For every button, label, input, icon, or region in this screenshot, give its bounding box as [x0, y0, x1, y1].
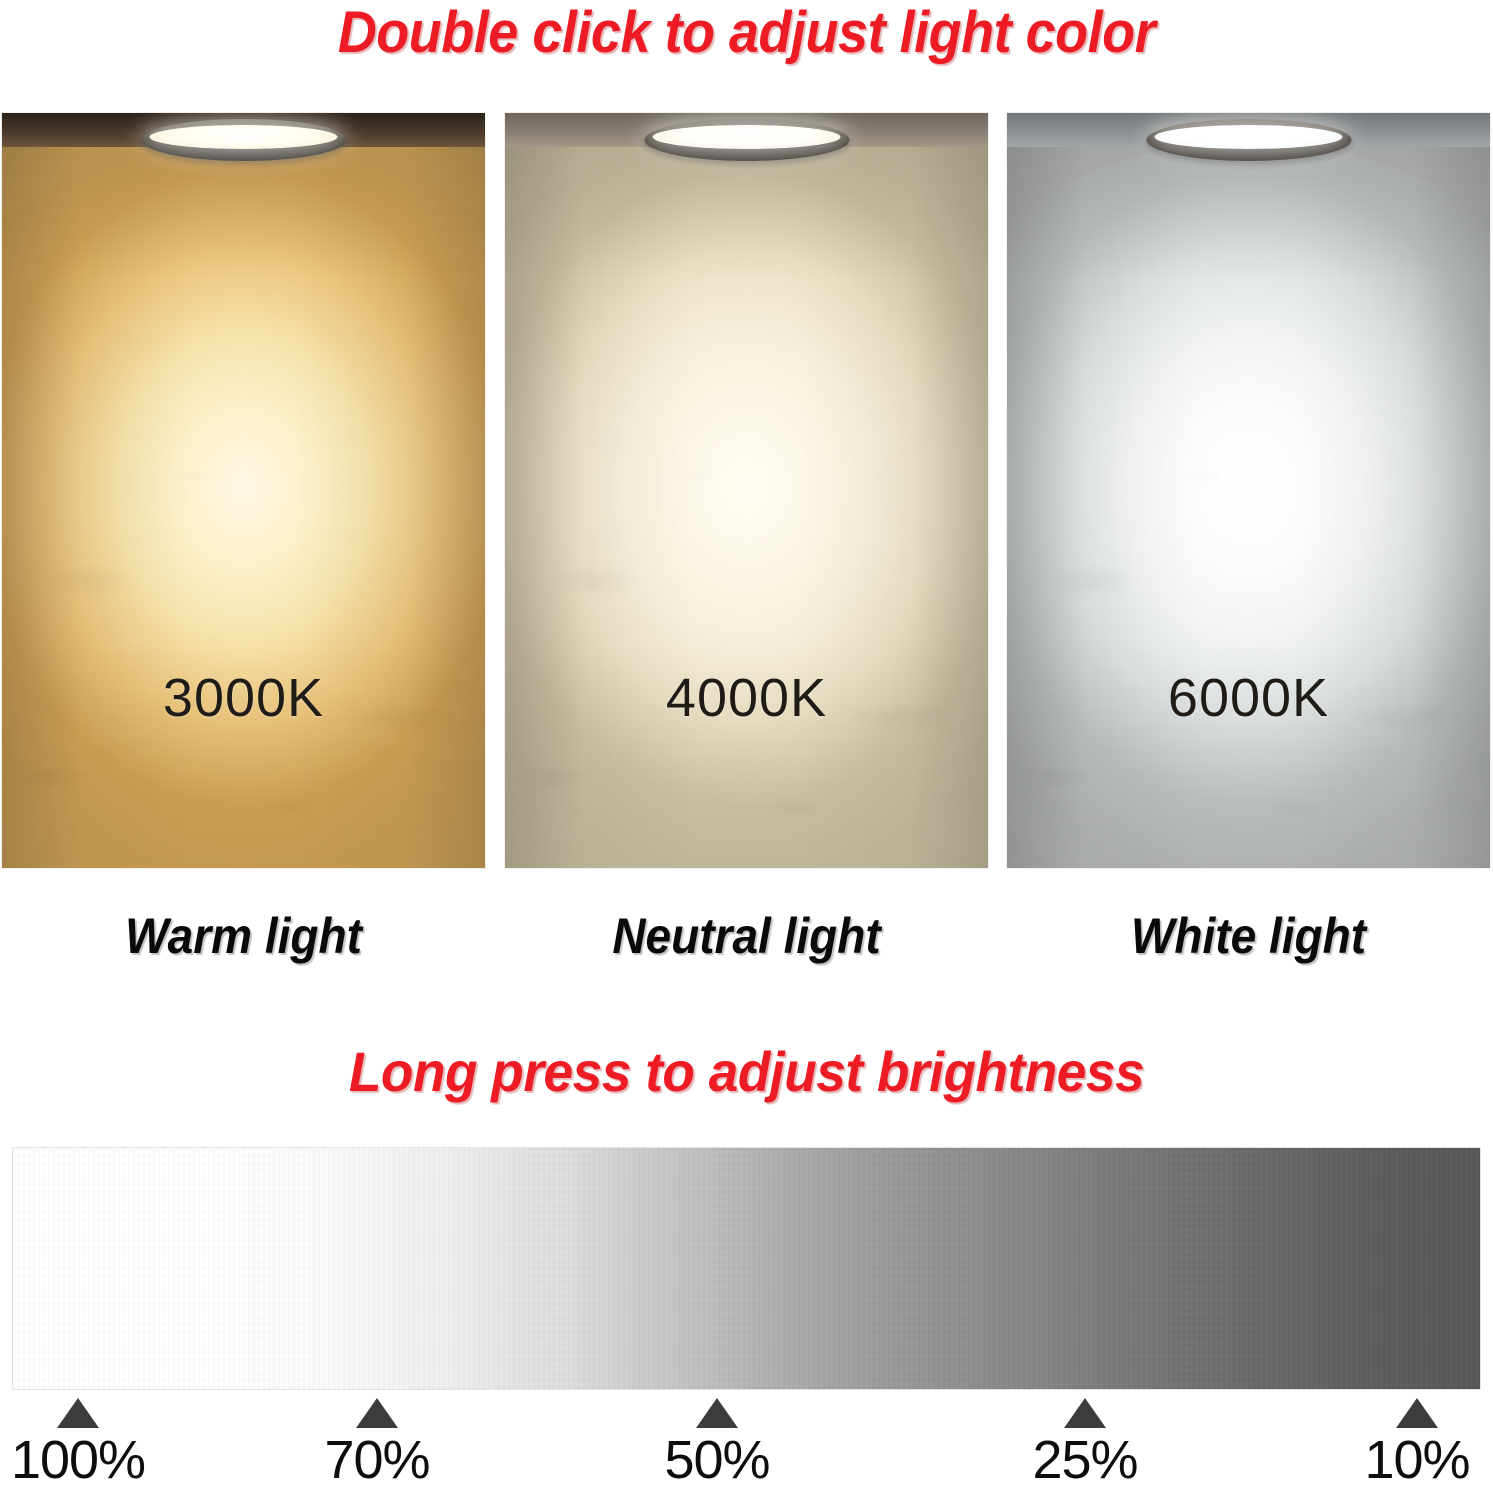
brightness-scale: 100% 70% 50% 25% 10% — [0, 1398, 1493, 1500]
gradient-texture — [13, 1148, 1480, 1389]
kelvin-label: 6000K — [1007, 668, 1490, 728]
brightness-tick-50: 50% — [617, 1398, 817, 1490]
triangle-up-icon — [696, 1398, 738, 1428]
triangle-up-icon — [1064, 1398, 1106, 1428]
brightness-tick-10: 10% — [1317, 1398, 1493, 1490]
triangle-up-icon — [57, 1398, 99, 1428]
color-panel-captions: Warm light Neutral light White light — [0, 905, 1493, 985]
brightness-level-label: 25% — [985, 1430, 1185, 1490]
color-panel-neutral: 4000K — [505, 113, 988, 868]
kelvin-label: 3000K — [2, 668, 485, 728]
caption-neutral-light: Neutral light — [524, 905, 968, 967]
brightness-level-label: 10% — [1317, 1430, 1493, 1490]
ceiling-light-icon — [1146, 119, 1351, 161]
brightness-level-label: 100% — [0, 1430, 178, 1490]
caption-warm-light: Warm light — [21, 905, 465, 967]
headline-adjust-light-color: Double click to adjust light color — [52, 0, 1440, 68]
ceiling-light-icon — [141, 119, 346, 161]
brightness-tick-25: 25% — [985, 1398, 1185, 1490]
brightness-level-label: 70% — [277, 1430, 477, 1490]
triangle-up-icon — [356, 1398, 398, 1428]
fixture-lens — [1154, 125, 1343, 149]
brightness-tick-100: 100% — [0, 1398, 178, 1490]
ceiling-light-icon — [644, 119, 849, 161]
triangle-up-icon — [1396, 1398, 1438, 1428]
wall-vignette — [2, 113, 485, 868]
wall-vignette — [1007, 113, 1490, 868]
kelvin-label: 4000K — [505, 668, 988, 728]
fixture-lens — [652, 125, 841, 149]
color-panel-warm: 3000K — [2, 113, 485, 868]
brightness-gradient-bar — [12, 1147, 1481, 1390]
caption-white-light: White light — [1026, 905, 1470, 967]
brightness-level-label: 50% — [617, 1430, 817, 1490]
headline-adjust-brightness: Long press to adjust brightness — [37, 1037, 1455, 1107]
wall-vignette — [505, 113, 988, 868]
color-panel-white: 6000K — [1007, 113, 1490, 868]
color-temperature-panels: 3000K 4000K 6000K — [0, 113, 1493, 868]
fixture-lens — [149, 125, 338, 149]
brightness-tick-70: 70% — [277, 1398, 477, 1490]
